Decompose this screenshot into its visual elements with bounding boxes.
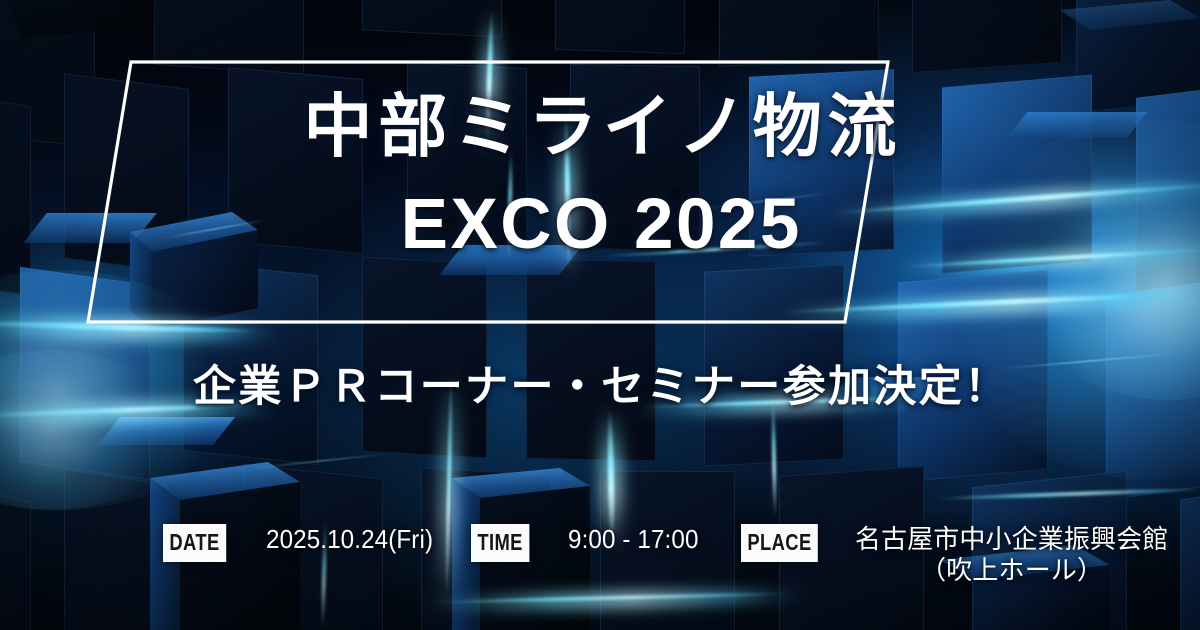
subtitle: 企業ＰＲコーナー・セミナー参加決定！: [0, 352, 1200, 414]
place-value-line2: （吹上ホール）: [855, 555, 1169, 586]
event-info-bar: DATE 2025.10.24(Fri) TIME 9:00 - 17:00 P…: [163, 524, 1168, 585]
place-value-line1: 名古屋市中小企業振興会館: [855, 524, 1169, 554]
time-badge-wrap: TIME: [471, 524, 542, 562]
place-badge: PLACE: [741, 524, 818, 562]
time-group: TIME 9:00 - 17:00: [471, 524, 708, 562]
title-block: 中部ミライノ物流 EXCO 2025: [0, 92, 1200, 260]
time-value: 9:00 - 17:00: [568, 524, 699, 555]
place-value: 名古屋市中小企業振興会館（吹上ホール）: [855, 524, 1169, 585]
time-badge: TIME: [471, 524, 529, 562]
page-title-line1: 中部ミライノ物流: [0, 92, 1200, 161]
date-group: DATE 2025.10.24(Fri): [163, 524, 445, 562]
event-poster: 中部ミライノ物流 EXCO 2025 企業ＰＲコーナー・セミナー参加決定！ DA…: [0, 0, 1200, 630]
place-group: PLACE 名古屋市中小企業振興会館（吹上ホール）: [741, 524, 1169, 585]
date-badge: DATE: [163, 524, 226, 562]
date-badge-wrap: DATE: [163, 524, 240, 562]
place-badge-wrap: PLACE: [741, 524, 835, 562]
date-value: 2025.10.24(Fri): [266, 524, 433, 555]
page-title-line2: EXCO 2025: [0, 189, 1200, 260]
